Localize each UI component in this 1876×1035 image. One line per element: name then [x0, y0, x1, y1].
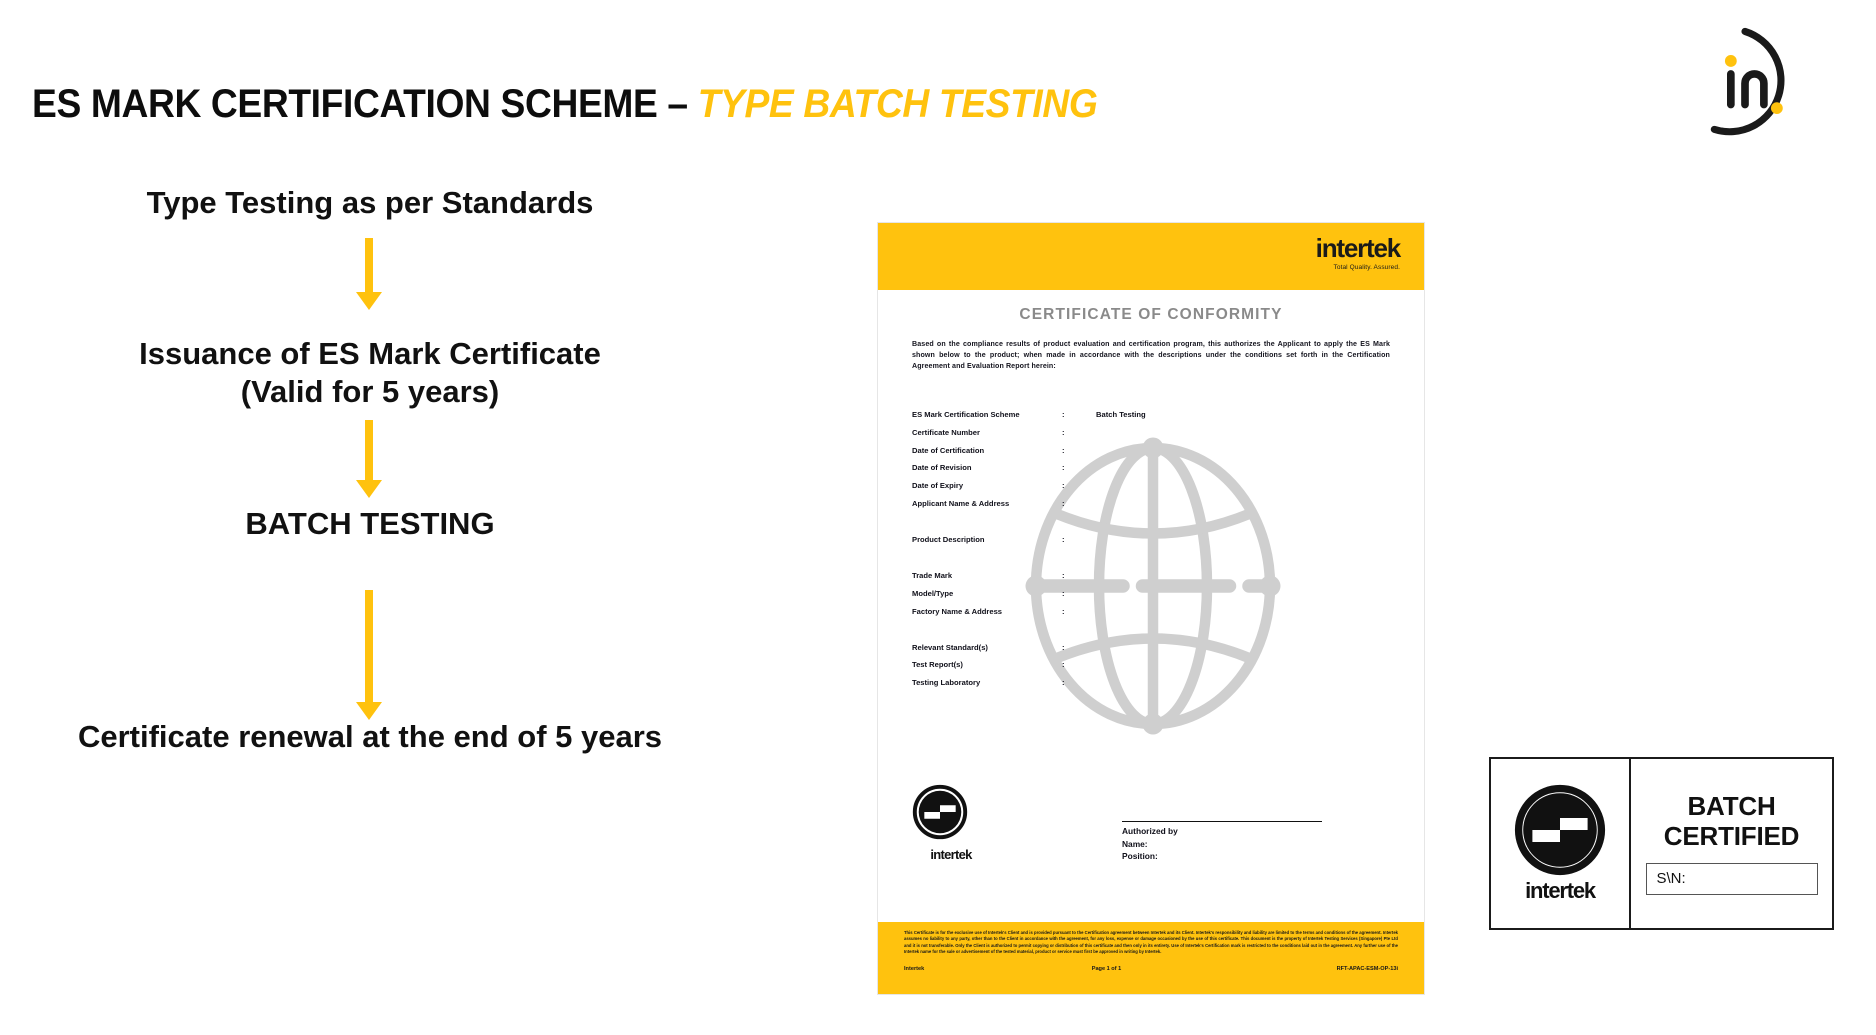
footer-page-number: Page 1 of 1 — [1092, 966, 1260, 972]
arrow-stem — [365, 420, 373, 482]
footer-company: Intertek — [904, 966, 1092, 972]
page-title-main: ES MARK CERTIFICATION SCHEME – — [32, 82, 698, 126]
certificate-logo-text: intertek — [1316, 235, 1400, 261]
flow-step-3: BATCH TESTING — [60, 505, 680, 543]
certificate-footer: This Certificate is for the exclusive us… — [878, 922, 1424, 994]
field-row: Applicant Name & Address : — [912, 499, 1390, 535]
certificate-signature-area: intertek Authorized by Name: Position: — [912, 784, 1390, 862]
field-row: ES Mark Certification Scheme : Batch Tes… — [912, 410, 1390, 428]
serial-number-label: S\N: — [1657, 870, 1686, 887]
field-label: ES Mark Certification Scheme — [912, 410, 1062, 419]
field-row: Date of Expiry : — [912, 481, 1390, 499]
certificate-intro-paragraph: Based on the compliance results of produ… — [912, 339, 1390, 372]
field-label: Certificate Number — [912, 428, 1062, 437]
flow-step-1: Type Testing as per Standards — [60, 184, 680, 222]
field-label: Product Description — [912, 535, 1062, 544]
certificate-header: intertek Total Quality. Assured. — [878, 223, 1424, 290]
badge-brand-label: intertek — [1525, 878, 1595, 904]
authorized-by-label: Authorized by — [1122, 825, 1322, 837]
authorization-block: Authorized by Name: Position: — [1122, 821, 1322, 862]
badge-title-line1: BATCH — [1687, 791, 1775, 821]
field-row: Date of Certification : — [912, 446, 1390, 464]
arrow-stem — [365, 238, 373, 294]
field-label: Model/Type — [912, 589, 1062, 598]
flow-arrow-1 — [356, 238, 382, 310]
field-row: Test Report(s) : — [912, 660, 1390, 678]
page-title: ES MARK CERTIFICATION SCHEME – TYPE BATC… — [32, 82, 1097, 127]
badge-logo-panel: intertek — [1491, 759, 1631, 928]
field-colon: : — [1062, 428, 1096, 437]
page-title-highlight: TYPE BATCH TESTING — [698, 82, 1098, 126]
field-row: Factory Name & Address : — [912, 607, 1390, 643]
field-label: Date of Revision — [912, 463, 1062, 472]
es-mark-logo-block: intertek — [912, 784, 1032, 862]
es-mark-brand-label: intertek — [912, 847, 990, 862]
es-mark-logo — [1514, 784, 1606, 876]
flow-arrow-2 — [356, 420, 382, 500]
badge-title: BATCH CERTIFIED — [1664, 792, 1799, 850]
arrow-head — [356, 480, 382, 498]
arrow-head — [356, 292, 382, 310]
field-label: Test Report(s) — [912, 660, 1062, 669]
field-colon: : — [1062, 660, 1096, 669]
field-colon: : — [1062, 499, 1096, 508]
field-row: Relevant Standard(s) : — [912, 643, 1390, 661]
arrow-stem — [365, 590, 373, 704]
field-colon: : — [1062, 678, 1096, 687]
footer-meta: Intertek Page 1 of 1 RFT-APAC-ESM-OP-13i — [904, 966, 1398, 972]
field-label: Trade Mark — [912, 571, 1062, 580]
field-value: Batch Testing — [1096, 410, 1146, 419]
field-colon: : — [1062, 463, 1096, 472]
field-colon: : — [1062, 535, 1096, 544]
certificate-intertek-logo: intertek Total Quality. Assured. — [1316, 235, 1400, 271]
serial-number-field[interactable]: S\N: — [1646, 863, 1818, 895]
flow-step-4: Certificate renewal at the end of 5 year… — [20, 718, 720, 756]
footer-legal-text: This Certificate is for the exclusive us… — [904, 930, 1398, 955]
field-row: Model/Type : — [912, 589, 1390, 607]
badge-title-line2: CERTIFIED — [1664, 821, 1799, 851]
field-label: Applicant Name & Address — [912, 499, 1062, 508]
field-label: Testing Laboratory — [912, 678, 1062, 687]
field-row: Testing Laboratory : — [912, 678, 1390, 696]
certificate-body: CERTIFICATE OF CONFORMITY Based on the c… — [878, 306, 1424, 862]
field-colon: : — [1062, 446, 1096, 455]
field-colon: : — [1062, 410, 1096, 419]
field-row: Product Description : — [912, 535, 1390, 571]
field-colon: : — [1062, 643, 1096, 652]
intertek-in-circle-logo — [1686, 22, 1804, 140]
certificate-fields: ES Mark Certification Scheme : Batch Tes… — [912, 410, 1390, 696]
position-label: Position: — [1122, 850, 1322, 862]
es-mark-logo — [912, 784, 968, 840]
field-label: Date of Certification — [912, 446, 1062, 455]
slide-canvas: ES MARK CERTIFICATION SCHEME – TYPE BATC… — [0, 0, 1876, 1035]
field-colon: : — [1062, 481, 1096, 490]
field-label: Relevant Standard(s) — [912, 643, 1062, 652]
footer-reference-code: RFT-APAC-ESM-OP-13i — [1260, 966, 1398, 972]
badge-text-panel: BATCH CERTIFIED S\N: — [1631, 759, 1832, 928]
field-label: Date of Expiry — [912, 481, 1062, 490]
field-row: Trade Mark : — [912, 571, 1390, 589]
name-label: Name: — [1122, 838, 1322, 850]
field-colon: : — [1062, 589, 1096, 598]
field-colon: : — [1062, 571, 1096, 580]
batch-certified-badge: intertek BATCH CERTIFIED S\N: — [1489, 757, 1834, 930]
field-row: Date of Revision : — [912, 463, 1390, 481]
signature-line — [1122, 821, 1322, 822]
flow-step-2: Issuance of ES Mark Certificate (Valid f… — [60, 335, 680, 412]
flow-arrow-3 — [356, 590, 382, 722]
field-colon: : — [1062, 607, 1096, 616]
certificate-logo-tagline: Total Quality. Assured. — [1316, 264, 1400, 271]
field-row: Certificate Number : — [912, 428, 1390, 446]
certificate-heading: CERTIFICATE OF CONFORMITY — [912, 306, 1390, 324]
certificate-preview: intertek Total Quality. Assured. CERTIFI… — [877, 222, 1425, 995]
field-label: Factory Name & Address — [912, 607, 1062, 616]
